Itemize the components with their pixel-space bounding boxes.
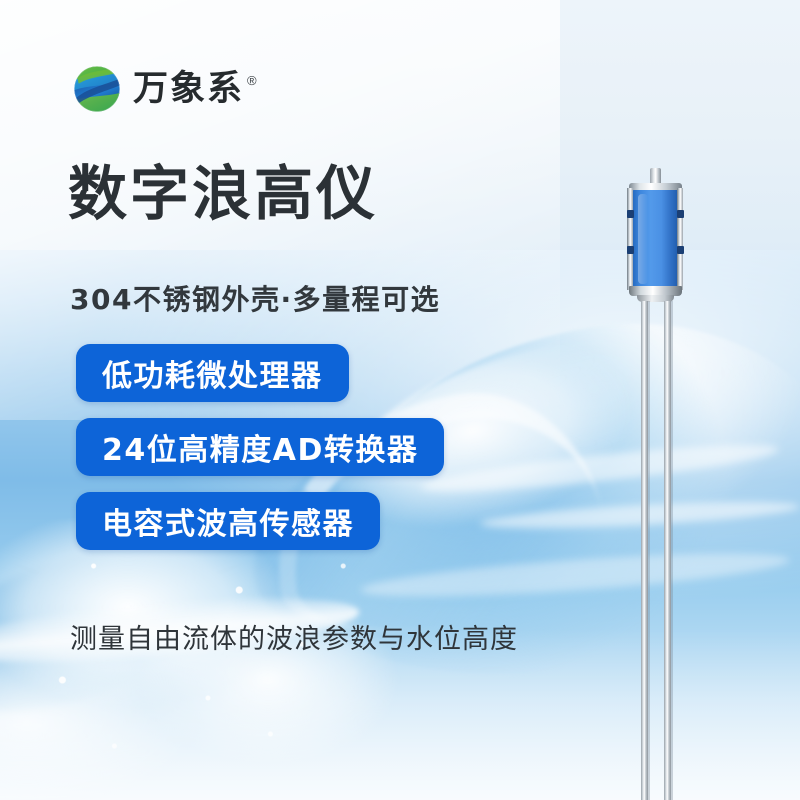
- brand-logo: 万象系 ®: [70, 62, 257, 116]
- feature-list: 低功耗微处理器 24位高精度AD转换器 电容式波高传感器: [76, 344, 444, 550]
- sensor-head-body: [631, 190, 680, 288]
- feature-pill-1: 低功耗微处理器: [76, 344, 349, 402]
- sensor-screw: [627, 210, 634, 218]
- sensor-rail-right: [677, 188, 683, 290]
- page-subtitle: 304不锈钢外壳·多量程可选: [70, 278, 440, 318]
- sensor-screw: [677, 246, 684, 254]
- probe-rod-left: [641, 301, 648, 800]
- sensor-screw: [677, 210, 684, 218]
- feature-pill-2: 24位高精度AD转换器: [76, 418, 444, 476]
- brand-wordmark: 万象系 ®: [133, 72, 257, 107]
- page-title: 数字浪高仪: [68, 163, 378, 225]
- sensor-rail-left: [627, 188, 633, 290]
- feature-pill-3: 电容式波高传感器: [76, 492, 380, 550]
- registered-trademark-icon: ®: [247, 74, 257, 87]
- brand-name: 万象系: [133, 72, 244, 107]
- probe-rod-right-shadow: [671, 301, 673, 800]
- probe-rod-left-shadow: [648, 301, 650, 800]
- probe-rod-right: [664, 301, 671, 800]
- product-image-wave-height-sensor: [600, 168, 710, 800]
- page-description: 测量自由流体的波浪参数与水位高度: [70, 617, 518, 656]
- product-banner: 万象系 ® 数字浪高仪 304不锈钢外壳·多量程可选 低功耗微处理器 24位高精…: [0, 0, 800, 800]
- globe-swirl-logo-icon: [70, 62, 124, 116]
- sensor-screw: [627, 246, 634, 254]
